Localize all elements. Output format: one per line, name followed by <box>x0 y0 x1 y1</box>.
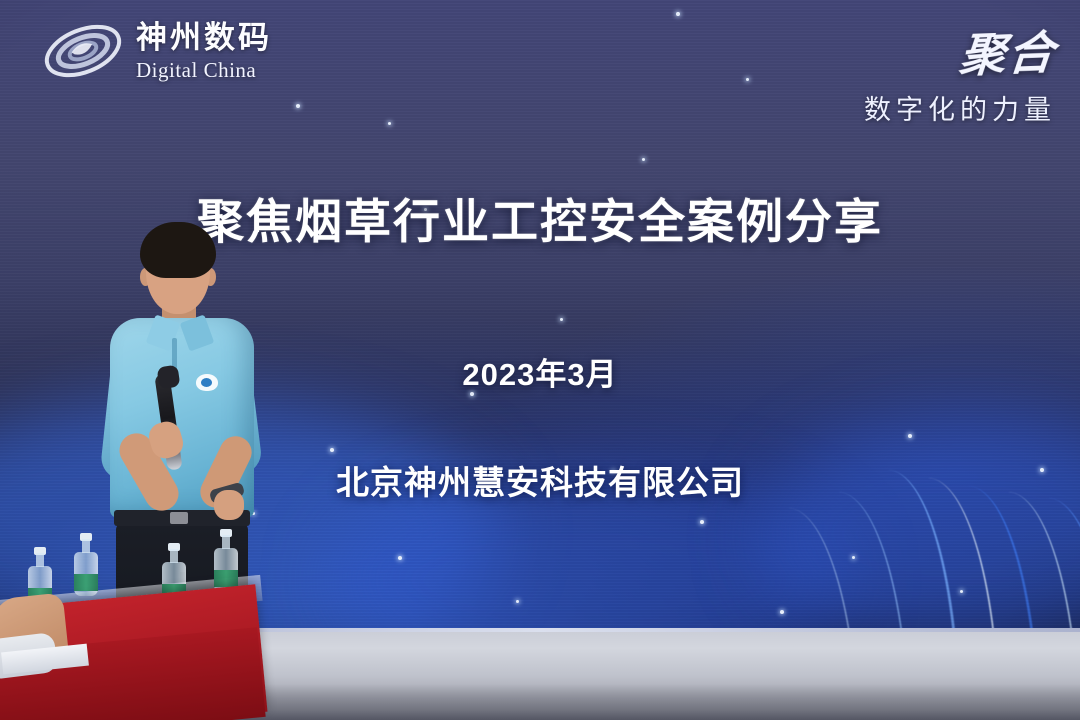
speaker-right-hand <box>214 490 244 520</box>
event-headline: 聚合 <box>957 16 1059 85</box>
particle-dot <box>908 434 912 438</box>
speaker-belt-buckle <box>170 512 188 524</box>
particle-dot <box>960 590 963 593</box>
bottle-neck <box>170 549 178 563</box>
particle-dot <box>296 104 300 108</box>
particle-dot <box>330 448 334 452</box>
particle-dot <box>746 78 749 81</box>
speaker-hair <box>140 222 216 278</box>
bottle-neck <box>82 539 90 553</box>
event-brand-logo: 聚合 数字化的力量 <box>864 18 1056 127</box>
digital-china-name-cn: 神州数码 <box>136 22 272 53</box>
bottle-label <box>214 570 238 587</box>
particle-dot <box>516 600 519 603</box>
bottle-neck <box>36 553 44 567</box>
particle-dot <box>642 158 645 161</box>
bottle-neck <box>222 535 230 549</box>
particle-dot <box>780 610 784 614</box>
conference-photo: 神州数码 Digital China 聚合 数字化的力量 聚焦烟草行业工控安全案… <box>0 0 1080 720</box>
particle-dot <box>388 122 391 125</box>
particle-dot <box>398 556 402 560</box>
water-bottle <box>74 552 98 596</box>
digital-china-name-en: Digital China <box>136 60 272 81</box>
particle-dot <box>700 520 704 524</box>
digital-china-logo: 神州数码 Digital China <box>42 16 272 86</box>
bottle-body <box>74 552 98 596</box>
speaker-shirt-logo-inner <box>201 378 212 387</box>
particle-dot <box>852 556 855 559</box>
particle-dot <box>560 318 563 321</box>
digital-china-swirl-icon <box>42 16 124 86</box>
bottle-label <box>74 574 98 591</box>
event-tagline: 数字化的力量 <box>864 88 1056 127</box>
particle-dot <box>676 12 680 16</box>
